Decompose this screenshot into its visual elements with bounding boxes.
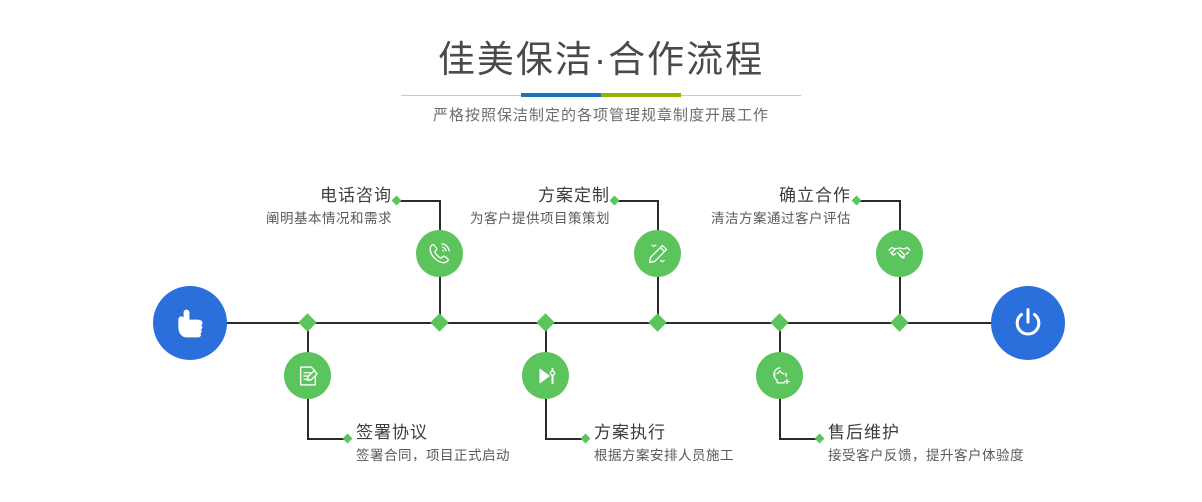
- step-title-establish-cooperation: 确立合作: [711, 184, 851, 208]
- step-node-after-sales[interactable]: [756, 352, 803, 399]
- power-icon: [1008, 303, 1048, 343]
- process-timeline: 电话咨询 阐明基本情况和需求 签署协议 签署合同，项目正式启动: [0, 140, 1202, 502]
- step-desc-plan-execute: 根据方案安排人员施工: [594, 445, 734, 467]
- label-bullet-step-5: [852, 196, 862, 206]
- step-node-phone-consult[interactable]: [416, 230, 463, 277]
- step-title-plan-execute: 方案执行: [594, 421, 734, 445]
- title-divider: [401, 93, 801, 97]
- step-desc-after-sales: 接受客户反馈，提升客户体验度: [828, 445, 1024, 467]
- step-desc-sign-agreement: 签署合同，项目正式启动: [356, 445, 510, 467]
- step-node-establish-cooperation[interactable]: [876, 230, 923, 277]
- page-subtitle: 严格按照保洁制定的各项管理规章制度开展工作: [0, 105, 1202, 127]
- connector-hline-step-5: [860, 200, 900, 202]
- step-title-after-sales: 售后维护: [828, 421, 1024, 445]
- document-edit-icon: [295, 363, 321, 389]
- divider-segment-blue: [521, 93, 601, 97]
- step-title-sign-agreement: 签署协议: [356, 421, 510, 445]
- pointing-hand-icon: [170, 303, 210, 343]
- step-title-phone-consult: 电话咨询: [266, 184, 392, 208]
- label-bullet-step-4: [581, 434, 591, 444]
- label-bullet-step-6: [815, 434, 825, 444]
- step-title-plan-customize: 方案定制: [470, 184, 610, 208]
- customer-support-icon: [767, 363, 793, 389]
- label-bullet-step-2: [343, 434, 353, 444]
- rail-diamond-step-6: [770, 313, 788, 331]
- label-bullet-step-1: [392, 196, 402, 206]
- connector-hline-step-1: [400, 200, 440, 202]
- step-label-establish-cooperation: 确立合作 清洁方案通过客户评估: [711, 184, 851, 230]
- divider-segment-green: [601, 93, 681, 97]
- rail-diamond-step-5: [890, 313, 908, 331]
- connector-hline-step-3: [618, 200, 658, 202]
- label-bullet-step-3: [610, 196, 620, 206]
- step-label-sign-agreement: 签署协议 签署合同，项目正式启动: [356, 421, 510, 467]
- connector-hline-step-6: [779, 438, 819, 440]
- pencil-edit-icon: [645, 241, 671, 267]
- rail-diamond-step-4: [536, 313, 554, 331]
- step-desc-phone-consult: 阐明基本情况和需求: [266, 208, 392, 230]
- connector-hline-step-4: [545, 438, 585, 440]
- page-title: 佳美保洁·合作流程: [0, 38, 1202, 82]
- step-desc-plan-customize: 为客户提供项目策策划: [470, 208, 610, 230]
- rail-diamond-step-1: [430, 313, 448, 331]
- step-node-plan-customize[interactable]: [634, 230, 681, 277]
- step-label-plan-execute: 方案执行 根据方案安排人员施工: [594, 421, 734, 467]
- connector-hline-step-2: [307, 438, 347, 440]
- step-node-sign-agreement[interactable]: [284, 352, 331, 399]
- step-node-plan-execute[interactable]: [522, 352, 569, 399]
- header: 佳美保洁·合作流程 严格按照保洁制定的各项管理规章制度开展工作: [0, 0, 1202, 140]
- step-label-plan-customize: 方案定制 为客户提供项目策策划: [470, 184, 610, 230]
- step-desc-establish-cooperation: 清洁方案通过客户评估: [711, 208, 851, 230]
- phone-call-icon: [426, 240, 453, 267]
- handshake-icon: [886, 240, 913, 267]
- timeline-start-node[interactable]: [153, 286, 227, 360]
- step-label-after-sales: 售后维护 接受客户反馈，提升客户体验度: [828, 421, 1024, 467]
- rail-diamond-step-2: [298, 313, 316, 331]
- timeline-end-node[interactable]: [991, 286, 1065, 360]
- step-label-phone-consult: 电话咨询 阐明基本情况和需求: [266, 184, 392, 230]
- play-execute-icon: [533, 363, 559, 389]
- rail-diamond-step-3: [648, 313, 666, 331]
